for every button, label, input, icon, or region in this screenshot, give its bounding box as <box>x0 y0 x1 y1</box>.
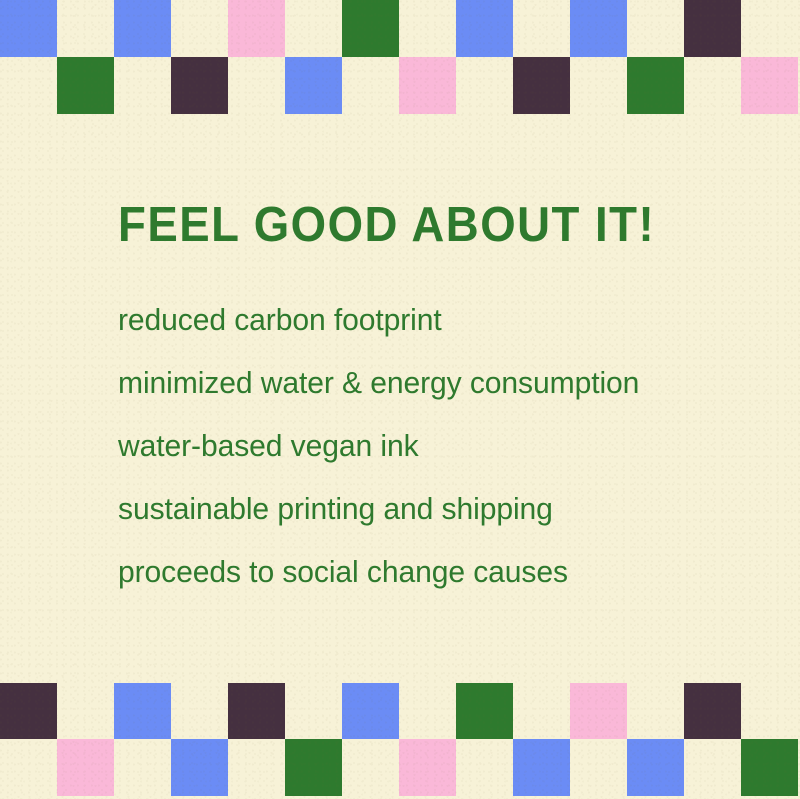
checker-cell-blue <box>114 0 171 57</box>
checker-cell-plum <box>171 57 228 114</box>
list-item: minimized water & energy consumption <box>118 351 739 414</box>
checker-cell-blue <box>171 739 228 796</box>
checker-row <box>0 0 800 57</box>
checker-cell-blue <box>114 683 171 739</box>
page-title: FEEL GOOD ABOUT IT! <box>118 200 655 250</box>
checker-cell-plum <box>684 0 741 57</box>
decorative-checker-band-bottom <box>0 683 800 799</box>
checker-cell-plum <box>228 683 285 739</box>
checker-cell-pink <box>570 683 627 739</box>
checker-cell-pink <box>399 739 456 796</box>
checker-cell-pink <box>741 57 798 114</box>
checker-row <box>0 57 800 114</box>
checker-cell-plum <box>684 683 741 739</box>
list-item: reduced carbon footprint <box>118 288 739 351</box>
poster-content: FEEL GOOD ABOUT IT! reduced carbon footp… <box>0 113 800 683</box>
checker-cell-plum <box>0 683 57 739</box>
checker-cell-green <box>342 0 399 57</box>
checker-cell-pink <box>399 57 456 114</box>
checker-cell-blue <box>627 739 684 796</box>
checker-cell-green <box>285 739 342 796</box>
checker-cell-blue <box>570 0 627 57</box>
list-item: proceeds to social change causes <box>118 540 739 603</box>
checker-cell-blue <box>285 57 342 114</box>
checker-cell-pink <box>57 739 114 796</box>
checker-row <box>0 683 800 739</box>
checker-cell-blue <box>513 739 570 796</box>
checker-cell-green <box>627 57 684 114</box>
benefits-list: reduced carbon footprint minimized water… <box>118 288 758 603</box>
checker-cell-blue <box>456 0 513 57</box>
decorative-checker-band-top <box>0 0 800 113</box>
checker-cell-blue <box>342 683 399 739</box>
list-item: water-based vegan ink <box>118 414 739 477</box>
checker-cell-green <box>741 739 798 796</box>
checker-cell-blue <box>0 0 57 57</box>
checker-cell-green <box>57 57 114 114</box>
poster-canvas: FEEL GOOD ABOUT IT! reduced carbon footp… <box>0 0 800 799</box>
checker-cell-plum <box>513 57 570 114</box>
checker-cell-pink <box>228 0 285 57</box>
checker-row <box>0 739 800 796</box>
list-item: sustainable printing and shipping <box>118 477 739 540</box>
checker-cell-green <box>456 683 513 739</box>
